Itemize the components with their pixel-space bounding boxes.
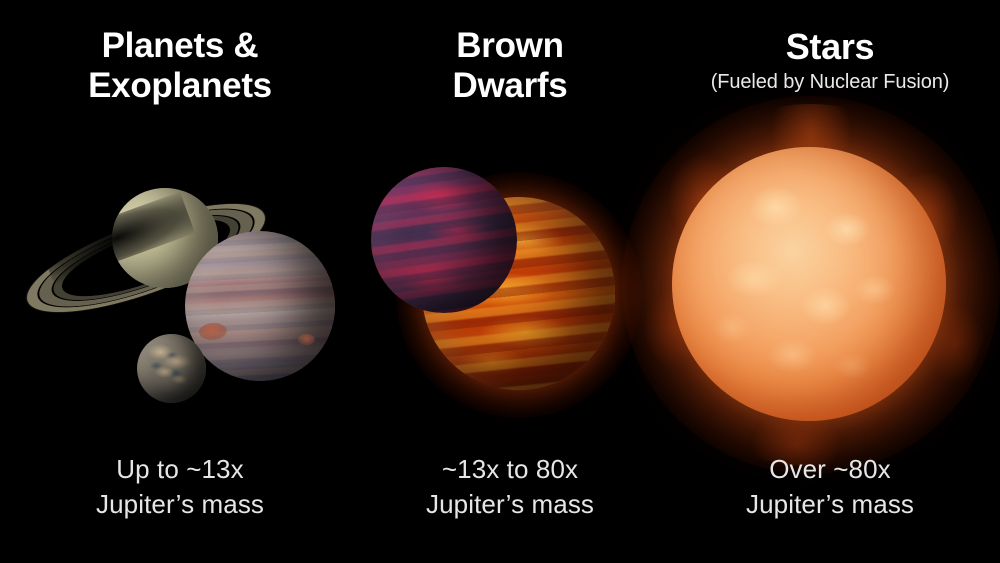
heading-stars: Stars [660,27,1000,67]
star-disc [672,147,946,421]
subheading-stars-fusion: (Fueled by Nuclear Fusion) [660,70,1000,94]
heading-planets-exoplanets: Planets & Exoplanets [0,26,360,106]
heading-line-2: Dwarfs [453,66,568,105]
heading-line-1: Stars [786,26,875,67]
caption-brown-dwarfs-mass: ~13x to 80x Jupiter’s mass [360,452,660,522]
heading-line-1: Brown [456,26,563,65]
great-red-spot [198,322,227,341]
heading-line-1: Planets & [102,26,259,65]
rocky-exoplanet-globe [137,334,206,403]
caption-stars-mass: Over ~80x Jupiter’s mass [660,452,1000,522]
cool-brown-dwarf-globe [371,167,517,313]
caption-line-2: Jupiter’s mass [360,487,660,522]
caption-line-2: Jupiter’s mass [0,487,360,522]
caption-planets-mass: Up to ~13x Jupiter’s mass [0,452,360,522]
jupiter-globe [185,231,335,381]
caption-line-1: ~13x to 80x [442,454,578,484]
infographic-canvas: Planets & Exoplanets Up to ~13x Jupiter’… [0,0,1000,563]
heading-line-2: Exoplanets [88,66,272,105]
caption-line-2: Jupiter’s mass [660,487,1000,522]
column-planets-exoplanets: Planets & Exoplanets Up to ~13x Jupiter’… [0,0,360,563]
jupiter-storm-spot [298,334,315,345]
caption-line-1: Up to ~13x [116,454,243,484]
caption-line-1: Over ~80x [769,454,891,484]
heading-brown-dwarfs: Brown Dwarfs [360,26,660,106]
